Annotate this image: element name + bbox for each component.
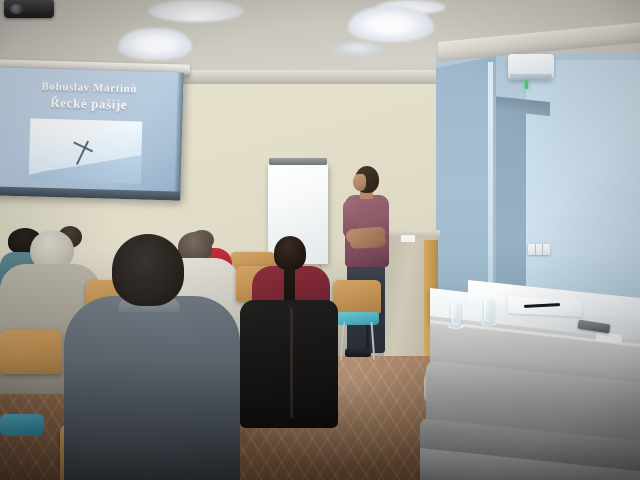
ceiling-light-2 <box>348 6 434 42</box>
drinking-glass-2 <box>484 300 494 323</box>
projector <box>4 0 54 18</box>
air-conditioner-vent <box>510 74 552 80</box>
drinking-glass-1 <box>451 303 461 326</box>
speaker-face <box>353 174 366 191</box>
air-conditioner-led-icon <box>525 80 528 89</box>
slide-title-work: Řecké pašije <box>0 93 183 114</box>
ceiling-light-1 <box>118 28 192 60</box>
black-coat-on-chair <box>240 300 338 428</box>
audience-head-foreground <box>112 234 184 306</box>
projector-lens-icon <box>10 4 23 14</box>
chair-seat-blue <box>0 414 44 436</box>
audience-person-grey-shirt <box>64 296 240 480</box>
flipchart-clamp <box>269 158 327 165</box>
photo-scene: Bohuslav Martinů Řecké pašije <box>0 0 640 480</box>
chair-backrest <box>0 330 62 374</box>
slide-hillside <box>29 148 143 183</box>
speaker-forearm-lower <box>350 235 387 249</box>
projection-screen: Bohuslav Martinů Řecké pašije <box>0 67 184 200</box>
chair-backrest <box>333 280 381 314</box>
slide-photo <box>29 118 143 183</box>
ceiling-light-3 <box>330 42 386 58</box>
pedestal-cabinet-label <box>400 234 416 243</box>
speaker-shoe <box>345 348 371 357</box>
coat-fold <box>290 308 293 418</box>
ceiling-light-glow-1 <box>148 0 244 22</box>
